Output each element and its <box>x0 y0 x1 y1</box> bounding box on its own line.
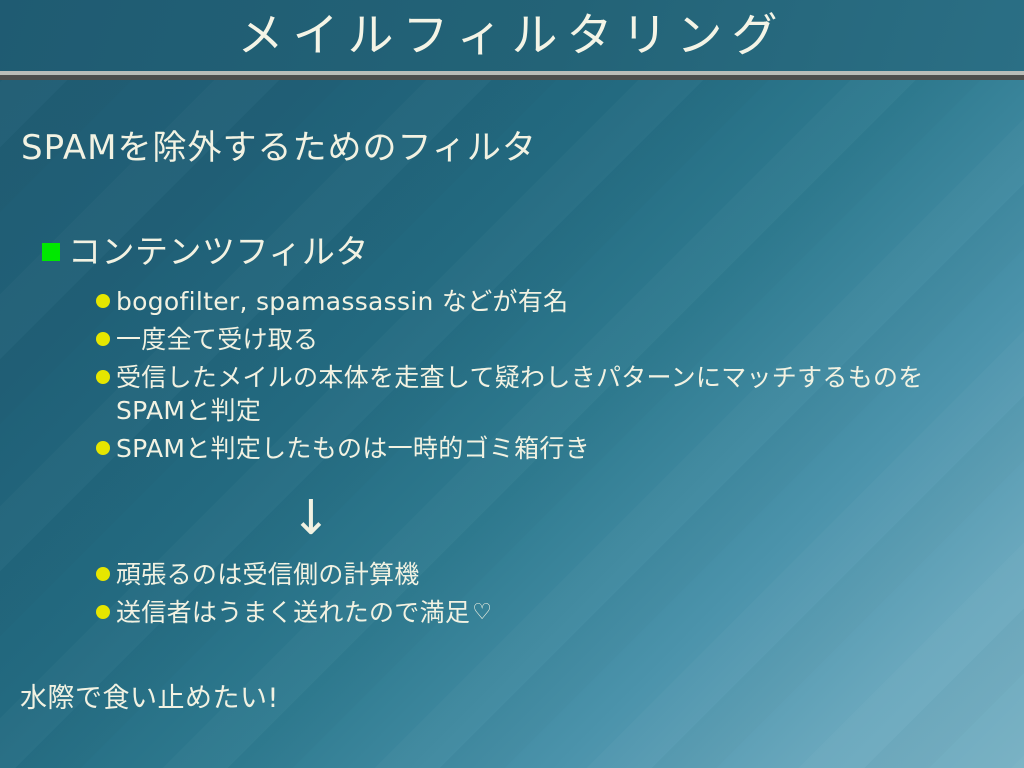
section-heading-content-filter: コンテンツフィルタ <box>42 232 369 272</box>
footer-note: 水際で食い止めたい! <box>20 682 279 716</box>
list-item: 一度全て受け取る <box>96 323 996 356</box>
presentation-slide: メイルフィルタリング SPAMを除外するためのフィルタ コンテンツフィルタ bo… <box>0 0 1024 768</box>
dot-bullet-icon <box>96 567 110 581</box>
slide-title: メイルフィルタリング <box>0 4 1024 66</box>
list-item-label: bogofilter, spamassassin などが有名 <box>116 285 568 318</box>
heart-glyph-icon: ♡ <box>472 602 492 624</box>
list-item: SPAMと判定したものは一時的ゴミ箱行き <box>96 432 996 465</box>
dot-bullet-icon <box>96 370 110 384</box>
bullet-list-before-arrow: bogofilter, spamassassin などが有名 一度全て受け取る … <box>96 285 996 470</box>
list-item-label: 一度全て受け取る <box>116 323 318 356</box>
section-heading-label: コンテンツフィルタ <box>68 232 369 272</box>
dot-bullet-icon <box>96 294 110 308</box>
list-item: 受信したメイルの本体を走査して疑わしきパターンにマッチするものをSPAMと判定 <box>96 361 996 427</box>
bullet-list-after-arrow: 頑張るのは受信側の計算機 送信者はうまく送れたので満足♡ <box>96 558 996 634</box>
list-item-label: SPAMと判定したものは一時的ゴミ箱行き <box>116 432 590 465</box>
list-item: bogofilter, spamassassin などが有名 <box>96 285 996 318</box>
title-band: メイルフィルタリング <box>0 0 1024 71</box>
dot-bullet-icon <box>96 605 110 619</box>
down-arrow-icon: ↓ <box>96 492 526 544</box>
dot-bullet-icon <box>96 441 110 455</box>
list-item: 頑張るのは受信側の計算機 <box>96 558 996 591</box>
list-item-label: 送信者はうまく送れたので満足♡ <box>116 596 492 629</box>
list-item-label: 頑張るのは受信側の計算機 <box>116 558 420 591</box>
list-item-text: 送信者はうまく送れたので満足 <box>116 598 470 627</box>
list-item: 送信者はうまく送れたので満足♡ <box>96 596 996 629</box>
list-item-label: 受信したメイルの本体を走査して疑わしきパターンにマッチするものをSPAMと判定 <box>116 361 971 427</box>
dot-bullet-icon <box>96 332 110 346</box>
title-divider-dark <box>0 75 1024 80</box>
square-bullet-icon <box>42 243 60 261</box>
slide-content: SPAMを除外するためのフィルタ コンテンツフィルタ bogofilter, s… <box>0 80 1024 768</box>
lead-statement: SPAMを除外するためのフィルタ <box>21 127 537 169</box>
